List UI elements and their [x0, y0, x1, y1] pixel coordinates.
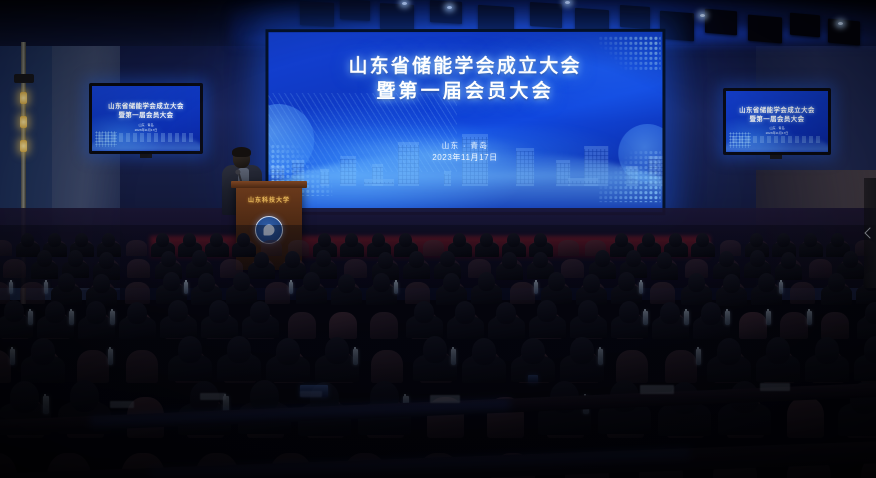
audience-seat	[558, 240, 579, 256]
audience-person-head	[414, 301, 434, 323]
audience-person-head	[657, 252, 672, 269]
ceiling-acoustic-panel	[340, 0, 370, 21]
audience-person-head	[45, 301, 65, 323]
audience-person-head	[496, 302, 516, 324]
audience-seat	[288, 312, 316, 339]
audience-person-head	[31, 338, 55, 365]
left-side-monitor: 山东省储能学会成立大会 暨第一届会员大会 山东 · 青岛 2023年11月17日	[89, 83, 203, 154]
audience-person-head	[507, 233, 520, 248]
audience-person-head	[399, 233, 412, 248]
audience-person-head	[198, 273, 215, 292]
water-bottle	[534, 282, 538, 294]
audience-seat	[20, 282, 45, 304]
audience-person-head	[831, 233, 844, 248]
audience-person-head	[303, 272, 320, 291]
water-bottle	[696, 349, 701, 365]
audience-person-head	[127, 302, 147, 324]
audience-paper	[110, 401, 134, 408]
audience-person-head	[669, 233, 682, 248]
audience-seat	[739, 312, 767, 339]
audience-person-head	[378, 252, 393, 269]
left-monitor-location: 山东 · 青岛	[138, 123, 153, 127]
ceiling-spotlight-icon	[402, 2, 407, 5]
audience-seat	[3, 259, 26, 278]
right-side-monitor: 山东省储能学会成立大会 暨第一届会员大会 山东 · 青岛 2023年11月17日	[723, 88, 831, 155]
audience-person-head	[815, 337, 839, 364]
audience-person-head	[227, 336, 251, 363]
audience-person-head	[619, 301, 639, 323]
right-monitor-date: 2023年11月17日	[726, 131, 828, 136]
audience-person-head	[521, 338, 545, 365]
audience-paper	[200, 393, 226, 400]
audience-person-head	[781, 252, 796, 269]
screen-title-line1: 山东省储能学会成立大会	[349, 56, 582, 77]
audience-seat	[650, 282, 675, 304]
audience-seat	[665, 350, 697, 383]
audience-person-head	[626, 250, 641, 267]
water-bottle	[28, 311, 33, 325]
audience-person-head	[93, 274, 110, 293]
audience-seat	[561, 259, 584, 278]
audience-person-head	[777, 233, 790, 248]
right-monitor-location: 山东 · 青岛	[769, 126, 784, 130]
audience-person-head	[615, 233, 628, 248]
water-bottle	[44, 282, 48, 294]
audience-person-head	[276, 338, 300, 365]
water-bottle	[451, 349, 456, 365]
audience-person-head	[210, 233, 223, 248]
audience-person-head	[440, 251, 455, 268]
audience-person-head	[250, 301, 270, 323]
audience-person-head	[21, 233, 34, 248]
audience-seat	[127, 259, 150, 278]
audience-person-head	[533, 252, 548, 269]
audience-person-head	[570, 337, 594, 364]
audience-seat	[370, 312, 398, 339]
audience-person-head	[183, 233, 196, 248]
left-monitor-title: 山东省储能学会成立大会 暨第一届会员大会	[92, 102, 200, 120]
water-bottle	[353, 349, 358, 365]
audience-phone-screen	[528, 375, 538, 383]
ceiling-acoustic-panel	[790, 13, 820, 38]
audience-person-head	[443, 273, 460, 292]
ceiling-spotlight-icon	[565, 1, 570, 4]
audience-paper	[430, 395, 460, 403]
audience-person-head	[696, 233, 709, 248]
audience-seat	[126, 240, 147, 256]
audience-person-head	[318, 233, 331, 248]
audience-person-head	[102, 233, 115, 248]
audience-laptop-screen	[300, 385, 328, 397]
water-bottle	[9, 282, 13, 294]
left-monitor-title-line2: 暨第一届会员大会	[92, 111, 200, 120]
water-bottle	[779, 282, 783, 294]
audience-person-head	[233, 272, 250, 291]
main-screen-surface: 山东省储能学会成立大会 暨第一届会员大会 山东 · 青岛 2023年11月17日	[268, 32, 662, 212]
water-bottle	[394, 282, 398, 294]
audience-area	[0, 225, 876, 478]
audience-person-head	[68, 250, 83, 267]
audience-seat	[780, 312, 808, 339]
water-bottle	[807, 311, 812, 325]
right-monitor-title: 山东省储能学会成立大会 暨第一届会员大会	[726, 106, 828, 124]
audience-person-head	[409, 251, 424, 268]
right-monitor-stand	[770, 155, 782, 159]
audience-seat	[510, 282, 535, 304]
audience-person-head	[86, 301, 106, 323]
right-monitor-skyline	[732, 136, 822, 144]
audience-person-head	[168, 300, 188, 322]
audience-seat	[329, 312, 357, 339]
screen-title: 山东省储能学会成立大会 暨第一届会员大会	[268, 54, 662, 104]
audience-person-head	[372, 233, 385, 248]
audience-seat	[790, 282, 815, 304]
left-monitor-skyline	[98, 133, 193, 141]
left-monitor-subtitle: 山东 · 青岛 2023年11月17日	[92, 123, 200, 133]
left-monitor-title-line1: 山东省储能学会成立大会	[108, 103, 184, 110]
edge-overlay-strip[interactable]	[864, 178, 876, 288]
water-bottle	[10, 349, 15, 365]
audience-person-head	[502, 252, 517, 269]
audience-person-head	[642, 233, 655, 248]
audience-seat	[0, 240, 12, 256]
audience-person-head	[455, 301, 475, 323]
audience-person-head	[843, 251, 858, 268]
audience-person-head	[750, 250, 765, 267]
audience-seat	[787, 397, 824, 438]
ceiling-acoustic-panel	[300, 1, 334, 27]
screen-title-line2: 暨第一届会员大会	[268, 79, 662, 104]
screen-location: 山东 · 青岛	[442, 141, 488, 150]
speaker-hair	[232, 147, 251, 157]
ceiling-acoustic-panel	[530, 2, 562, 28]
audience-person-head	[750, 233, 763, 248]
audience-person-head	[285, 251, 300, 268]
audience-person-head	[534, 233, 547, 248]
audience-person-head	[254, 252, 269, 269]
water-bottle	[684, 311, 689, 325]
audience-person-head	[325, 337, 349, 364]
screen-subtitle: 山东 · 青岛 2023年11月17日	[268, 140, 662, 164]
water-bottle	[289, 282, 293, 294]
audience-seat	[126, 350, 158, 383]
audience-seat	[821, 312, 849, 339]
audience-person-head	[583, 274, 600, 293]
audience-person-head	[178, 336, 202, 363]
audience-person-head	[478, 272, 495, 291]
water-bottle	[43, 396, 49, 414]
left-monitor-screen: 山东省储能学会成立大会 暨第一届会员大会 山东 · 青岛 2023年11月17日	[92, 86, 200, 151]
audience-person-head	[316, 250, 331, 267]
audience-person-head	[70, 380, 99, 412]
ceiling-spotlight-icon	[700, 14, 705, 17]
chevron-left-icon[interactable]	[864, 227, 875, 238]
audience-person-head	[719, 251, 734, 268]
ceiling-acoustic-panel	[705, 9, 737, 36]
audience-person-head	[472, 338, 496, 365]
water-bottle	[643, 311, 648, 325]
audience-person-head	[453, 233, 466, 248]
water-bottle	[725, 311, 730, 325]
water-bottle	[766, 311, 771, 325]
water-bottle	[110, 311, 115, 325]
audience-person-head	[75, 233, 88, 248]
right-monitor-title-line2: 暨第一届会员大会	[726, 115, 828, 124]
audience-person-head	[209, 300, 229, 322]
audience-person-head	[548, 272, 565, 291]
audience-person-head	[37, 250, 52, 267]
audience-person-head	[338, 274, 355, 293]
audience-person-head	[237, 233, 250, 248]
audience-paper	[640, 385, 674, 394]
ceiling-acoustic-panel	[380, 3, 414, 31]
conference-hall-photo: 山东省储能学会成立大会 暨第一届会员大会 山东 · 青岛 2023年11月17日…	[0, 0, 876, 478]
ceiling-spotlight-icon	[838, 22, 843, 25]
water-bottle	[184, 282, 188, 294]
audience-person-head	[4, 300, 24, 322]
audience-person-head	[595, 250, 610, 267]
audience-person-head	[161, 251, 176, 268]
audience-seat	[371, 350, 403, 383]
right-monitor-title-line1: 山东省储能学会成立大会	[739, 107, 815, 114]
audience-person-head	[828, 273, 845, 292]
audience-paper	[760, 383, 790, 391]
mast-lamp-icon	[20, 92, 27, 104]
audience-seat	[809, 259, 832, 278]
audience-person-head	[688, 273, 705, 292]
audience-seat	[77, 350, 109, 383]
main-led-screen: 山东省储能学会成立大会 暨第一届会员大会 山东 · 青岛 2023年11月17日	[265, 29, 665, 215]
camera-mount-icon	[14, 74, 34, 83]
water-bottle	[69, 311, 74, 325]
audience-person-head	[723, 274, 740, 293]
ceiling-acoustic-panel	[748, 15, 782, 44]
audience-person-head	[345, 233, 358, 248]
audience-person-head	[373, 273, 390, 292]
left-monitor-date: 2023年11月17日	[92, 128, 200, 133]
mast-lamp-icon	[20, 140, 27, 152]
audience-person-head	[163, 272, 180, 291]
audience-seat	[265, 282, 290, 304]
audience-person-head	[48, 233, 61, 248]
left-monitor-stand	[140, 154, 152, 158]
audience-person-head	[701, 302, 721, 324]
ceiling-acoustic-panel	[430, 0, 462, 24]
audience-person-head	[717, 338, 741, 365]
right-monitor-screen: 山东省储能学会成立大会 暨第一届会员大会 山东 · 青岛 2023年11月17日	[726, 91, 828, 152]
audience-person-head	[10, 381, 39, 413]
ceiling-acoustic-panel	[620, 5, 650, 29]
audience-seat	[616, 350, 648, 383]
ceiling-acoustic-panel	[828, 19, 860, 46]
ceiling-spotlight-icon	[447, 6, 452, 9]
water-bottle	[639, 282, 643, 294]
audience-person-head	[156, 233, 169, 248]
audience-person-head	[99, 252, 114, 269]
audience-person-head	[480, 233, 493, 248]
audience-person-head	[423, 336, 447, 363]
audience-person-head	[660, 302, 680, 324]
audience-person-head	[537, 300, 557, 322]
audience-person-head	[58, 273, 75, 292]
water-bottle	[598, 349, 603, 365]
podium-top-surface	[231, 181, 307, 188]
audience-person-head	[865, 302, 876, 324]
podium-institution-text: 山东科技大学	[236, 195, 302, 204]
audience-person-head	[758, 273, 775, 292]
audience-person-head	[804, 233, 817, 248]
screen-date: 2023年11月17日	[268, 152, 662, 164]
audience-person-head	[766, 337, 790, 364]
mast-lamp-icon	[20, 116, 27, 128]
right-monitor-subtitle: 山东 · 青岛 2023年11月17日	[726, 126, 828, 136]
audience-person-head	[864, 336, 876, 363]
audience-person-head	[578, 300, 598, 322]
audience-person-head	[192, 250, 207, 267]
audience-person-head	[618, 272, 635, 291]
water-bottle	[108, 349, 113, 365]
